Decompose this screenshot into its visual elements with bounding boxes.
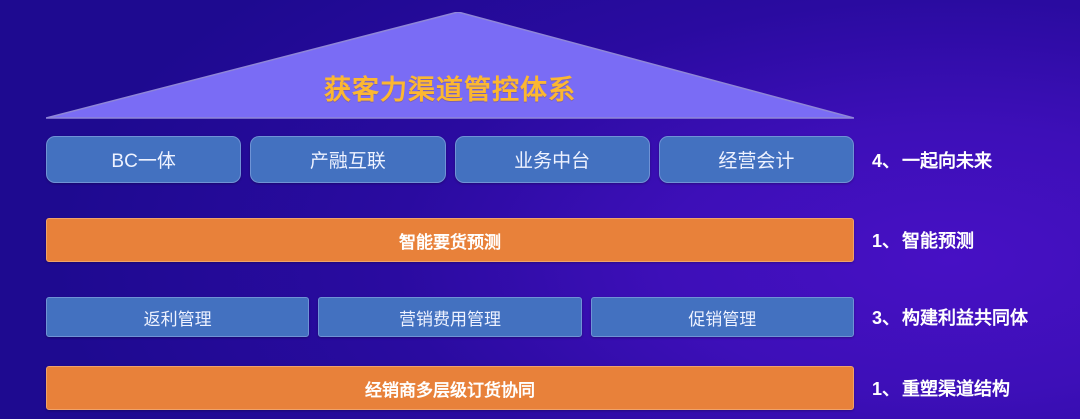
caption-row-ordering: 1、 重塑渠道结构 [872, 366, 1078, 410]
forecast-label: 智能要货预测 [399, 228, 501, 253]
management-box-marketing-expense[interactable]: 营销费用管理 [318, 297, 581, 337]
roof-title: 获客力渠道管控体系 [46, 68, 854, 107]
caption-text: 重塑渠道结构 [902, 375, 1010, 401]
roof-shape: 获客力渠道管控体系 [46, 12, 854, 120]
management-box-promotion[interactable]: 促销管理 [591, 297, 854, 337]
capability-label: 业务中台 [514, 146, 590, 173]
ordering-label: 经销商多层级订货协同 [365, 376, 535, 401]
forecast-bar[interactable]: 智能要货预测 [46, 218, 854, 262]
ordering-bar[interactable]: 经销商多层级订货协同 [46, 366, 854, 410]
capability-box-midplatform[interactable]: 业务中台 [455, 136, 650, 183]
caption-number: 1、 [872, 375, 900, 401]
row-capabilities: BC一体 产融互联 业务中台 经营会计 [46, 136, 854, 183]
capability-box-accounting[interactable]: 经营会计 [659, 136, 854, 183]
capability-label: 经营会计 [718, 146, 794, 173]
caption-number: 1、 [872, 227, 900, 253]
management-label: 返利管理 [144, 305, 212, 330]
capability-label: BC一体 [111, 146, 175, 173]
caption-number: 3、 [872, 304, 900, 330]
row-ordering: 经销商多层级订货协同 [46, 366, 854, 410]
caption-text: 智能预测 [902, 227, 974, 253]
caption-number: 4、 [872, 147, 900, 173]
caption-row-capabilities: 4、 一起向未来 [872, 138, 1078, 182]
caption-row-forecast: 1、 智能预测 [872, 218, 1078, 262]
row-management: 返利管理 营销费用管理 促销管理 [46, 297, 854, 337]
management-label: 促销管理 [688, 305, 756, 330]
management-box-rebate[interactable]: 返利管理 [46, 297, 309, 337]
capability-box-bc[interactable]: BC一体 [46, 136, 241, 183]
capability-label: 产融互联 [310, 146, 386, 173]
capability-box-finance[interactable]: 产融互联 [250, 136, 445, 183]
management-label: 营销费用管理 [399, 305, 501, 330]
caption-row-management: 3、 构建利益共同体 [872, 295, 1078, 339]
caption-text: 构建利益共同体 [902, 304, 1028, 330]
slide-canvas: 获客力渠道管控体系 BC一体 产融互联 业务中台 经营会计 4、 一起向未来 智… [0, 0, 1080, 419]
row-forecast: 智能要货预测 [46, 218, 854, 262]
caption-text: 一起向未来 [902, 147, 992, 173]
